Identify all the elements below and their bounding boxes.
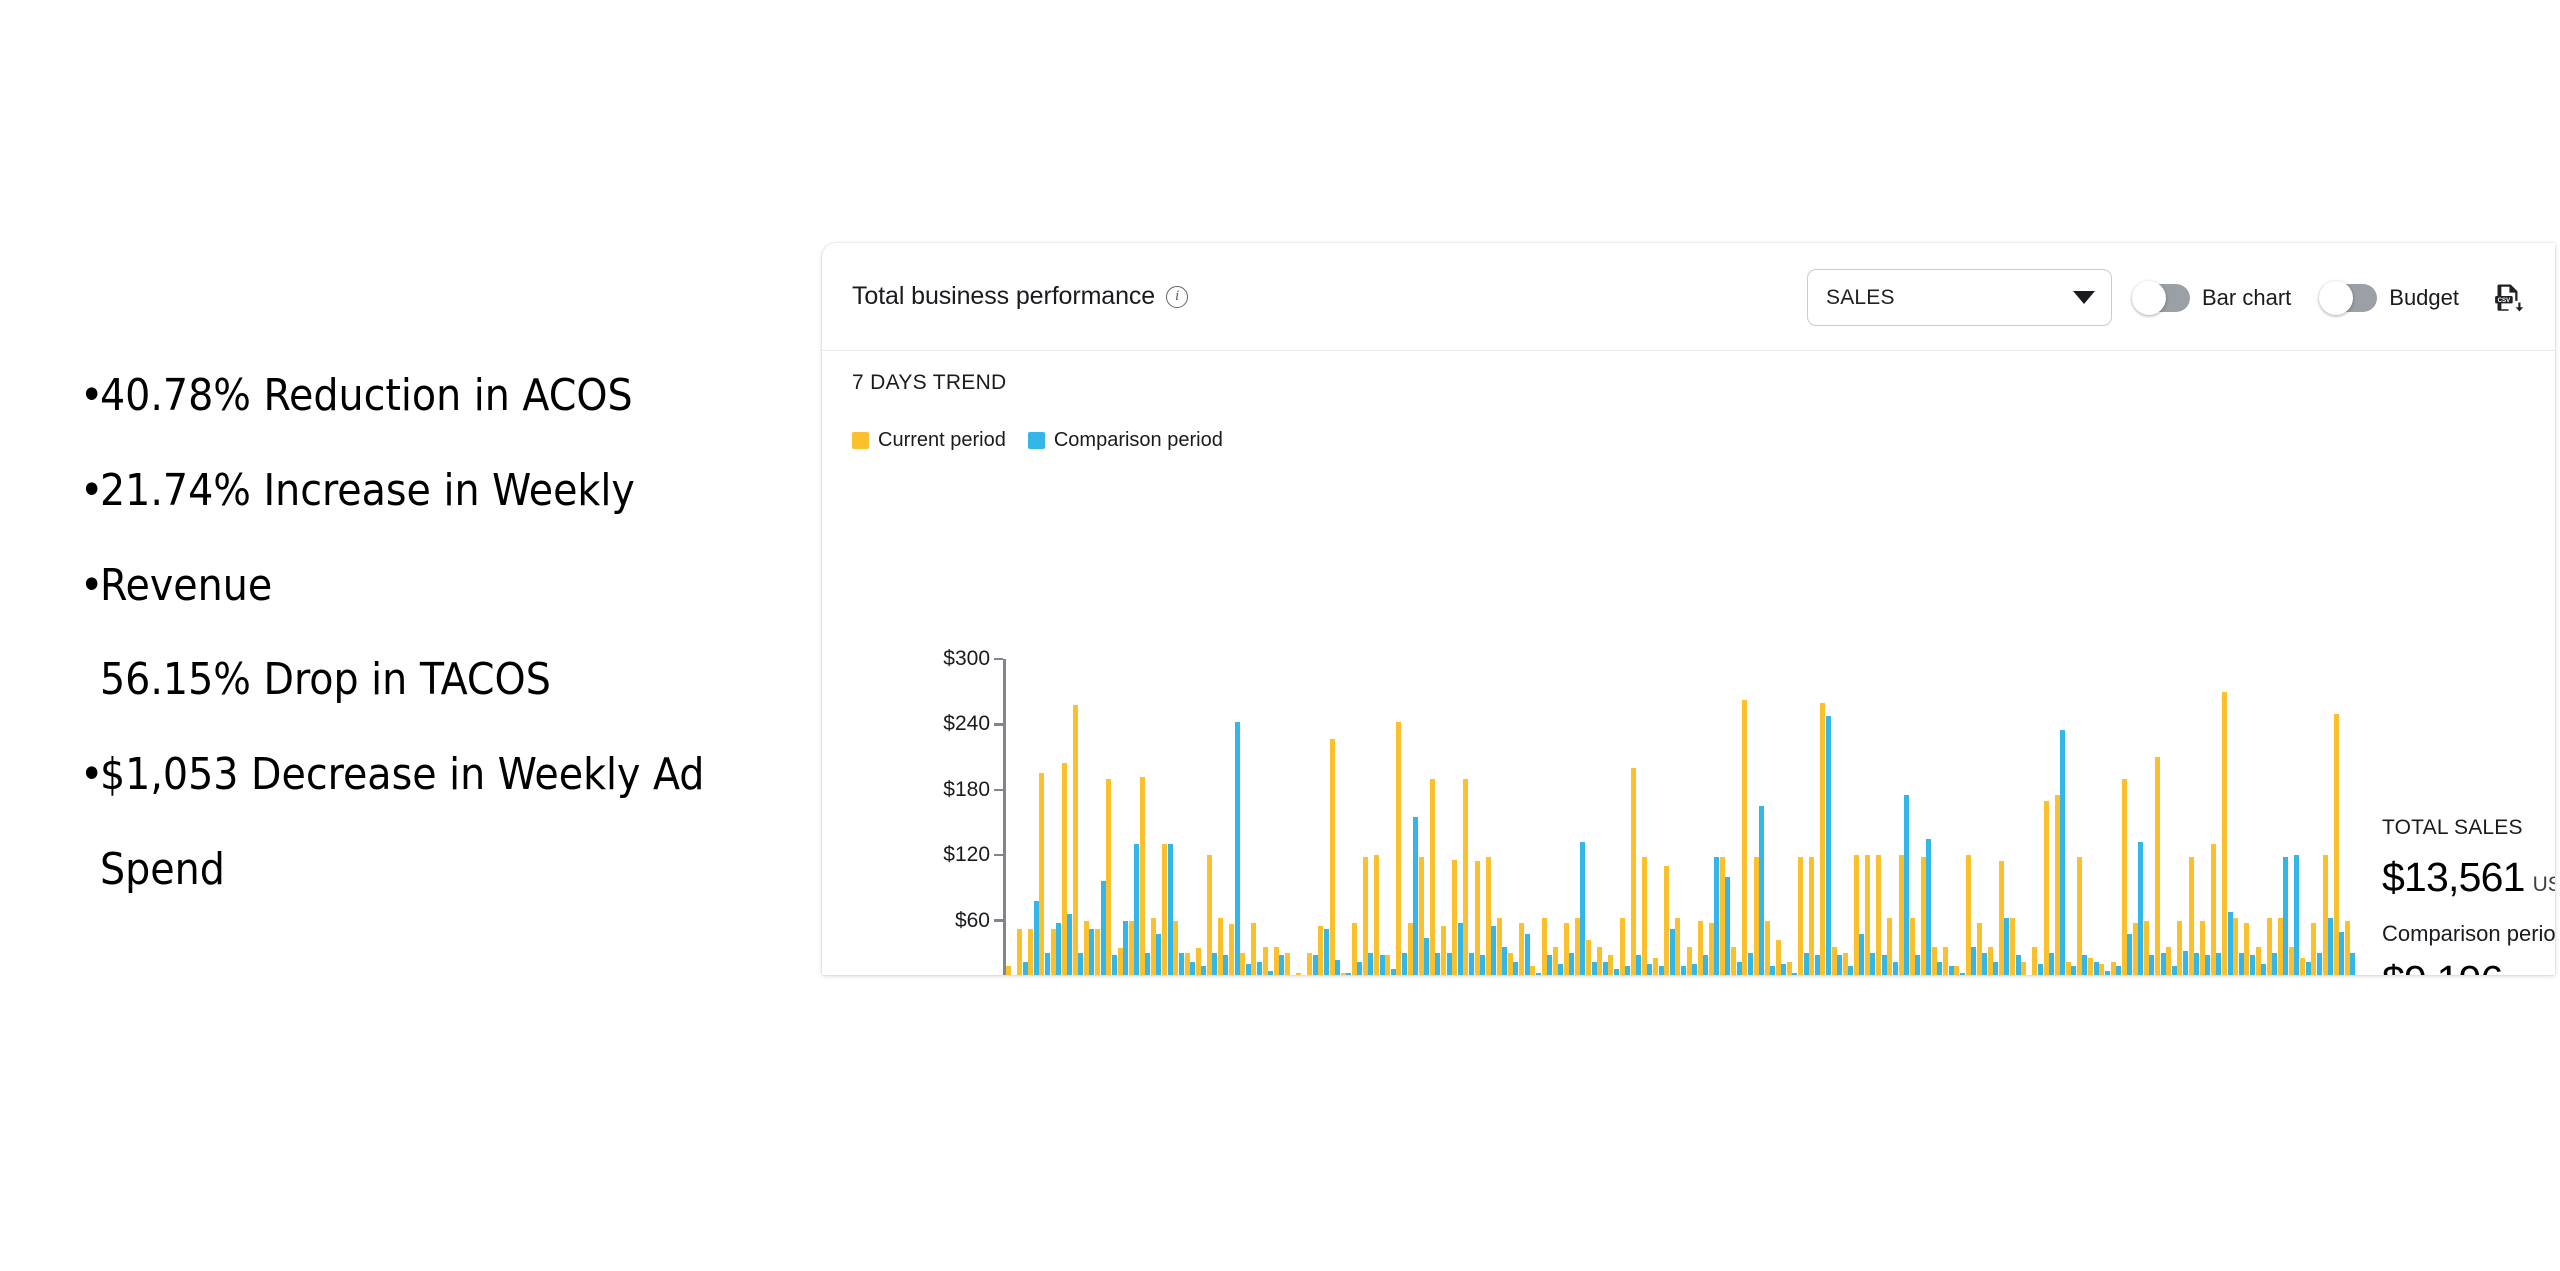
bar-current-period[interactable] — [1084, 921, 1089, 975]
total-sales-value: $13,561 — [2382, 854, 2525, 901]
bar-comparison-period[interactable] — [1636, 955, 1641, 975]
bar-current-period[interactable] — [1642, 857, 1647, 975]
legend-swatch-comparison — [1028, 432, 1045, 449]
bullet-text: 21.74% Increase in Weekly — [100, 465, 635, 518]
bar-comparison-period[interactable] — [1123, 921, 1128, 975]
bar-current-period[interactable] — [1564, 923, 1569, 975]
bar-current-period[interactable] — [1687, 947, 1692, 975]
bar-current-period[interactable] — [1140, 777, 1145, 975]
bar-current-period[interactable] — [1943, 947, 1948, 975]
bar-comparison-period[interactable] — [1837, 955, 1842, 975]
bar-current-period[interactable] — [2166, 947, 2171, 975]
bar-current-period[interactable] — [1441, 926, 1446, 975]
bullet-marker: • — [80, 370, 100, 423]
bar-comparison-period[interactable] — [1089, 929, 1094, 975]
bar-comparison-period[interactable] — [2071, 966, 2076, 975]
bar-comparison-period[interactable] — [2016, 955, 2021, 975]
bar-current-period[interactable] — [1742, 700, 1747, 975]
legend-label-comparison: Comparison period — [1054, 429, 1223, 452]
toggle-track[interactable] — [2134, 284, 2190, 312]
metric-select[interactable]: SALES — [1807, 269, 2112, 326]
bar-current-period[interactable] — [1307, 953, 1312, 975]
bar-current-period[interactable] — [1374, 855, 1379, 975]
bar-comparison-period[interactable] — [1023, 962, 1028, 975]
bar-comparison-period[interactable] — [1960, 973, 1965, 975]
bar-current-period[interactable] — [1062, 763, 1067, 975]
bar-current-period[interactable] — [2233, 918, 2238, 975]
bar-current-period[interactable] — [1352, 923, 1357, 975]
bar-current-period[interactable] — [2278, 918, 2283, 975]
bar-comparison-period[interactable] — [1748, 953, 1753, 975]
y-axis-tick-label: $300 — [943, 647, 994, 671]
bar-current-period[interactable] — [1988, 947, 1993, 975]
card-title-group: Total business performance i — [852, 282, 1188, 311]
bar-current-period[interactable] — [1318, 926, 1323, 975]
y-axis-tick: $120 — [943, 843, 1003, 867]
bar-current-period[interactable] — [1173, 921, 1178, 975]
bar-current-period[interactable] — [1017, 929, 1022, 975]
bar-current-period[interactable] — [1787, 962, 1792, 975]
bullet-text: 40.78% Reduction in ACOS — [100, 370, 633, 423]
bar-comparison-period[interactable] — [1078, 953, 1083, 975]
bar-comparison-period[interactable] — [1313, 955, 1318, 975]
toggle-knob — [2132, 281, 2166, 315]
bar-comparison-period[interactable] — [1971, 947, 1976, 975]
bar-current-period[interactable] — [1709, 923, 1714, 975]
bar-comparison-period[interactable] — [2294, 855, 2299, 975]
bar-comparison-period[interactable] — [2116, 966, 2121, 975]
performance-card: Total business performance i SALES Bar c… — [822, 243, 2555, 975]
bar-comparison-period[interactable] — [1447, 953, 1452, 975]
bar-current-period[interactable] — [1776, 940, 1781, 975]
chevron-down-icon — [2073, 291, 2095, 304]
bar-current-period[interactable] — [2311, 923, 2316, 975]
bar-comparison-period[interactable] — [1235, 722, 1240, 975]
bar-comparison-period[interactable] — [1737, 962, 1742, 975]
bar-comparison-period[interactable] — [1859, 934, 1864, 975]
bar-current-period[interactable] — [1910, 918, 1915, 975]
bar-comparison-period[interactable] — [1257, 962, 1262, 975]
bar-comparison-period[interactable] — [1580, 842, 1585, 975]
y-axis-tick: $240 — [943, 712, 1003, 736]
bar-comparison-period[interactable] — [1101, 881, 1106, 975]
bar-comparison-period[interactable] — [1547, 955, 1552, 975]
bar-comparison-period[interactable] — [2127, 934, 2132, 975]
bar-current-period[interactable] — [1754, 857, 1759, 975]
bar-current-period[interactable] — [1073, 705, 1078, 975]
bar-comparison-period[interactable] — [2205, 955, 2210, 975]
bar-current-period[interactable] — [2222, 692, 2227, 975]
bar-comparison-period[interactable] — [1993, 962, 1998, 975]
bar-comparison-period[interactable] — [1536, 973, 1541, 975]
bar-current-period[interactable] — [1731, 947, 1736, 975]
toggle-budget-label: Budget — [2389, 285, 2459, 311]
bar-current-period[interactable] — [1039, 773, 1044, 975]
bar-comparison-period[interactable] — [1201, 966, 1206, 975]
bar-current-period[interactable] — [1854, 855, 1859, 975]
bar-current-period[interactable] — [1620, 918, 1625, 975]
bar-current-period[interactable] — [1151, 918, 1156, 975]
csv-download-icon[interactable]: CSV — [2489, 278, 2529, 318]
bar-comparison-period[interactable] — [1893, 962, 1898, 975]
bar-current-period[interactable] — [1887, 918, 1892, 975]
bar-current-period[interactable] — [1653, 958, 1658, 975]
bar-current-period[interactable] — [1051, 929, 1056, 975]
bar-comparison-period[interactable] — [1380, 955, 1385, 975]
bar-current-period[interactable] — [2334, 714, 2339, 976]
bar-current-period[interactable] — [2211, 844, 2216, 975]
bar-current-period[interactable] — [1798, 857, 1803, 975]
bar-current-period[interactable] — [2244, 923, 2249, 975]
list-item: Spend — [80, 844, 800, 897]
bar-current-period[interactable] — [1586, 940, 1591, 975]
bar-current-period[interactable] — [2155, 757, 2160, 975]
y-axis-tick: $60 — [955, 909, 1003, 933]
y-axis-tick-mark — [994, 919, 1003, 922]
bar-comparison-period[interactable] — [1848, 966, 1853, 975]
bar-current-period[interactable] — [1497, 918, 1502, 975]
bar-comparison-period[interactable] — [1212, 953, 1217, 975]
bar-comparison-period[interactable] — [2004, 918, 2009, 975]
bar-current-period[interactable] — [1876, 855, 1881, 975]
bar-comparison-period[interactable] — [1413, 817, 1418, 975]
comparison-period-label: Comparison period — [2382, 921, 2555, 947]
stats-panel: TOTAL SALES $13,561 USD Comparison perio… — [2382, 816, 2555, 975]
y-axis-tick: $180 — [943, 778, 1003, 802]
bar-comparison-period[interactable] — [2216, 953, 2221, 975]
bar-comparison-period[interactable] — [2228, 912, 2233, 975]
bar-current-period[interactable] — [2256, 947, 2261, 975]
y-axis-tick-mark — [994, 789, 1003, 792]
bar-current-period[interactable] — [2066, 962, 2071, 975]
y-axis-tick-label: $60 — [955, 909, 994, 933]
y-axis-tick: $0 — [967, 974, 1003, 975]
bar-current-period[interactable] — [1832, 947, 1837, 975]
bar-comparison-period[interactable] — [1502, 947, 1507, 975]
bar-comparison-period[interactable] — [1569, 953, 1574, 975]
bar-comparison-period[interactable] — [1882, 955, 1887, 975]
bar-comparison-period[interactable] — [1870, 953, 1875, 975]
bar-comparison-period[interactable] — [1781, 964, 1786, 975]
bar-current-period[interactable] — [1865, 855, 1870, 975]
bar-current-period[interactable] — [1664, 866, 1669, 975]
bar-comparison-period[interactable] — [1034, 901, 1039, 975]
bar-comparison-period[interactable] — [2306, 962, 2311, 975]
bar-current-period[interactable] — [1486, 857, 1491, 975]
bar-current-period[interactable] — [1720, 857, 1725, 975]
bar-current-period[interactable] — [1631, 768, 1636, 975]
bar-comparison-period[interactable] — [1558, 964, 1563, 975]
bar-comparison-period[interactable] — [1056, 923, 1061, 975]
bar-current-period[interactable] — [1597, 947, 1602, 975]
bar-comparison-period[interactable] — [1134, 844, 1139, 975]
page-title: Total business performance — [852, 282, 1155, 311]
bar-current-period[interactable] — [2010, 918, 2015, 975]
bar-current-period[interactable] — [2088, 958, 2093, 975]
y-axis-tick-label: $120 — [943, 843, 994, 867]
bar-comparison-period[interactable] — [2317, 953, 2322, 975]
legend-label-current: Current period — [878, 429, 1006, 452]
bar-comparison-period[interactable] — [1670, 929, 1675, 975]
bar-current-period[interactable] — [1263, 947, 1268, 975]
bar-current-period[interactable] — [1765, 921, 1770, 975]
bar-comparison-period[interactable] — [1480, 955, 1485, 975]
bar-current-period[interactable] — [2323, 855, 2328, 975]
bar-comparison-period[interactable] — [2328, 918, 2333, 975]
bar-comparison-period[interactable] — [1112, 955, 1117, 975]
bar-current-period[interactable] — [1675, 918, 1680, 975]
bar-comparison-period[interactable] — [1179, 953, 1184, 975]
bar-current-period[interactable] — [1452, 860, 1457, 975]
bar-current-period[interactable] — [2055, 795, 2060, 975]
bar-comparison-period[interactable] — [1725, 877, 1730, 975]
bar-comparison-period[interactable] — [1246, 964, 1251, 975]
bar-comparison-period[interactable] — [1681, 966, 1686, 975]
legend-item-current: Current period — [852, 429, 1006, 452]
bar-current-period[interactable] — [1698, 921, 1703, 975]
bullet-marker: • — [80, 560, 100, 613]
toggle-bar-chart[interactable]: Bar chart — [2134, 284, 2291, 312]
bar-current-period[interactable] — [1396, 722, 1401, 975]
bar-comparison-period[interactable] — [1513, 962, 1518, 975]
bullet-text: Spend — [100, 844, 225, 897]
bar-comparison-period[interactable] — [2350, 953, 2355, 975]
list-item: • $1,053 Decrease in Weekly Ad — [80, 749, 800, 802]
bar-comparison-period[interactable] — [1603, 962, 1608, 975]
bar-current-period[interactable] — [1218, 918, 1223, 975]
bar-comparison-period[interactable] — [2149, 955, 2154, 975]
bar-comparison-period[interactable] — [1525, 934, 1530, 975]
bar-current-period[interactable] — [1251, 923, 1256, 975]
bar-current-period[interactable] — [1843, 953, 1848, 975]
bar-current-period[interactable] — [2044, 801, 2049, 975]
bar-comparison-period[interactable] — [1268, 971, 1273, 975]
bar-current-period[interactable] — [1542, 918, 1547, 975]
bar-comparison-period[interactable] — [2194, 953, 2199, 975]
toggle-track[interactable] — [2321, 284, 2377, 312]
bar-comparison-period[interactable] — [2183, 951, 2188, 975]
bar-comparison-period[interactable] — [2082, 955, 2087, 975]
bar-current-period[interactable] — [1095, 929, 1100, 975]
legend-swatch-current — [852, 432, 869, 449]
bar-current-period[interactable] — [1207, 855, 1212, 975]
bar-current-period[interactable] — [1106, 779, 1111, 975]
bar-comparison-period[interactable] — [1703, 955, 1708, 975]
bar-current-period[interactable] — [2345, 921, 2350, 975]
bar-comparison-period[interactable] — [1804, 953, 1809, 975]
bar-current-period[interactable] — [1363, 857, 1368, 975]
bar-comparison-period[interactable] — [1826, 716, 1831, 975]
bar-comparison-period[interactable] — [1982, 953, 1987, 975]
y-axis-tick-label: $180 — [943, 778, 994, 802]
toggle-knob — [2319, 281, 2353, 315]
bar-comparison-period[interactable] — [1279, 955, 1284, 975]
bullet-marker: • — [80, 749, 100, 802]
bar-comparison-period[interactable] — [1424, 938, 1429, 975]
plot-frame: $0$60$120$180$240$300 SunSunMonMonTueTue… — [1003, 659, 1351, 975]
bullet-marker: • — [80, 465, 100, 518]
bar-comparison-period[interactable] — [1469, 953, 1474, 975]
bar-current-period[interactable] — [2177, 921, 2182, 975]
bar-current-period[interactable] — [1430, 779, 1435, 975]
list-item: • 21.74% Increase in Weekly — [80, 465, 800, 518]
bullet-text: Revenue — [100, 560, 272, 613]
bar-current-period[interactable] — [1999, 861, 2004, 975]
bar-comparison-period[interactable] — [1770, 966, 1775, 975]
bar-comparison-period[interactable] — [1168, 844, 1173, 975]
bullet-text: 56.15% Drop in TACOS — [100, 654, 551, 707]
bar-current-period[interactable] — [1921, 857, 1926, 975]
bar-current-period[interactable] — [1608, 955, 1613, 975]
bar-current-period[interactable] — [1932, 947, 1937, 975]
bar-comparison-period[interactable] — [1324, 929, 1329, 975]
bar-comparison-period[interactable] — [1647, 964, 1652, 975]
bar-current-period[interactable] — [1028, 929, 1033, 975]
bar-comparison-period[interactable] — [1368, 953, 1373, 975]
bar-comparison-period[interactable] — [1949, 966, 1954, 975]
bar-comparison-period[interactable] — [2283, 857, 2288, 975]
bar-current-period[interactable] — [2021, 962, 2026, 975]
bar-comparison-period[interactable] — [1625, 966, 1630, 975]
bar-current-period[interactable] — [1118, 948, 1123, 975]
bar-comparison-period[interactable] — [1792, 973, 1797, 975]
bar-current-period[interactable] — [1341, 973, 1346, 975]
metric-select-value: SALES — [1826, 286, 1895, 310]
bullet-text: $1,053 Decrease in Weekly Ad — [100, 749, 704, 802]
bar-current-period[interactable] — [1899, 855, 1904, 975]
bar-current-period[interactable] — [2267, 918, 2272, 975]
bar-current-period[interactable] — [1196, 948, 1201, 975]
bar-comparison-period[interactable] — [1223, 955, 1228, 975]
bar-comparison-period[interactable] — [2239, 953, 2244, 975]
bar-current-period[interactable] — [2077, 857, 2082, 975]
bar-comparison-period[interactable] — [1692, 964, 1697, 975]
list-item: 56.15% Drop in TACOS — [80, 654, 800, 707]
stats-title: TOTAL SALES — [2382, 816, 2555, 840]
bar-comparison-period[interactable] — [1614, 969, 1619, 975]
list-item: • Revenue — [80, 560, 800, 613]
bar-comparison-period[interactable] — [2250, 955, 2255, 975]
bar-comparison-period[interactable] — [1491, 926, 1496, 975]
bar-comparison-period[interactable] — [1145, 953, 1150, 975]
bar-current-period[interactable] — [1954, 966, 1959, 975]
bar-comparison-period[interactable] — [2049, 953, 2054, 975]
bar-current-period[interactable] — [2300, 958, 2305, 975]
bar-current-period[interactable] — [2133, 923, 2138, 975]
bar-comparison-period[interactable] — [1815, 955, 1820, 975]
comparison-row: $9,196 ↑47% — [2382, 957, 2555, 975]
bar-comparison-period[interactable] — [2138, 842, 2143, 975]
bar-current-period[interactable] — [1553, 947, 1558, 975]
bar-current-period[interactable] — [1385, 955, 1390, 975]
bar-current-period[interactable] — [1463, 779, 1468, 975]
bar-current-period[interactable] — [2122, 779, 2127, 975]
bar-current-period[interactable] — [1809, 857, 1814, 975]
bar-current-period[interactable] — [1408, 923, 1413, 975]
bar-comparison-period[interactable] — [1067, 914, 1072, 975]
bar-current-period[interactable] — [1820, 703, 1825, 975]
bar-current-period[interactable] — [1240, 953, 1245, 975]
bar-comparison-period[interactable] — [1458, 923, 1463, 975]
bar-current-period[interactable] — [1475, 861, 1480, 975]
bar-comparison-period[interactable] — [1435, 953, 1440, 975]
bar-comparison-period[interactable] — [2038, 964, 2043, 975]
bar-comparison-period[interactable] — [2105, 971, 2110, 975]
bar-comparison-period[interactable] — [1937, 962, 1942, 975]
bar-comparison-period[interactable] — [1659, 966, 1664, 975]
bar-comparison-period[interactable] — [2060, 730, 2065, 975]
bar-comparison-period[interactable] — [1714, 857, 1719, 975]
bar-current-period[interactable] — [2289, 947, 2294, 975]
bar-current-period[interactable] — [2144, 921, 2149, 975]
currency-label: USD — [2533, 873, 2555, 897]
bar-comparison-period[interactable] — [2094, 962, 2099, 975]
bar-comparison-period[interactable] — [1402, 953, 1407, 975]
bar-current-period[interactable] — [1330, 739, 1335, 975]
bar-current-period[interactable] — [1129, 921, 1134, 975]
card-header: Total business performance i SALES Bar c… — [822, 243, 2555, 351]
trend-label: 7 DAYS TREND — [852, 371, 1007, 395]
bar-current-period[interactable] — [2099, 964, 2104, 975]
bar-comparison-period[interactable] — [2161, 953, 2166, 975]
bar-current-period[interactable] — [1530, 966, 1535, 975]
bar-comparison-period[interactable] — [1190, 962, 1195, 975]
bar-comparison-period[interactable] — [1156, 934, 1161, 975]
bar-current-period[interactable] — [1977, 923, 1982, 975]
bar-current-period[interactable] — [1185, 953, 1190, 975]
bar-comparison-period[interactable] — [1759, 806, 1764, 975]
bar-current-period[interactable] — [1285, 953, 1290, 975]
y-axis-tick-mark — [994, 854, 1003, 857]
bar-comparison-period[interactable] — [2339, 932, 2344, 976]
bar-comparison-period[interactable] — [1926, 839, 1931, 975]
bar-current-period[interactable] — [2189, 857, 2194, 975]
bar-current-period[interactable] — [2111, 962, 2116, 975]
bar-comparison-period[interactable] — [2261, 964, 2266, 975]
bar-current-period[interactable] — [2032, 947, 2037, 975]
bar-current-period[interactable] — [1419, 857, 1424, 975]
y-axis-tick: $300 — [943, 647, 1003, 671]
bar-comparison-period[interactable] — [1357, 962, 1362, 975]
bar-current-period[interactable] — [1274, 947, 1279, 975]
svg-text:CSV: CSV — [2498, 297, 2511, 304]
bar-comparison-period[interactable] — [1335, 960, 1340, 975]
bar-current-period[interactable] — [1575, 918, 1580, 975]
bar-current-period[interactable] — [1296, 973, 1301, 975]
bar-comparison-period[interactable] — [1915, 955, 1920, 975]
bar-comparison-period[interactable] — [2272, 953, 2277, 975]
chart-legend: Current period Comparison period — [852, 429, 1223, 452]
bar-current-period[interactable] — [1229, 924, 1234, 975]
bar-current-period[interactable] — [2200, 921, 2205, 975]
bar-comparison-period[interactable] — [2172, 966, 2177, 975]
list-item: • 40.78% Reduction in ACOS — [80, 370, 800, 423]
bar-current-period[interactable] — [1519, 923, 1524, 975]
info-icon[interactable]: i — [1166, 286, 1188, 308]
bar-comparison-period[interactable] — [1391, 969, 1396, 975]
legend-item-comparison: Comparison period — [1028, 429, 1223, 452]
toggle-budget[interactable]: Budget — [2321, 284, 2459, 312]
bar-comparison-period[interactable] — [1592, 962, 1597, 975]
bar-comparison-period[interactable] — [1045, 953, 1050, 975]
bar-comparison-period[interactable] — [1904, 795, 1909, 975]
y-axis-tick-mark — [994, 723, 1003, 726]
bar-comparison-period[interactable] — [1346, 973, 1351, 975]
bar-current-period[interactable] — [1966, 855, 1971, 975]
bar-current-period[interactable] — [1006, 966, 1011, 975]
bar-current-period[interactable] — [1508, 953, 1513, 975]
bar-current-period[interactable] — [1162, 844, 1167, 975]
